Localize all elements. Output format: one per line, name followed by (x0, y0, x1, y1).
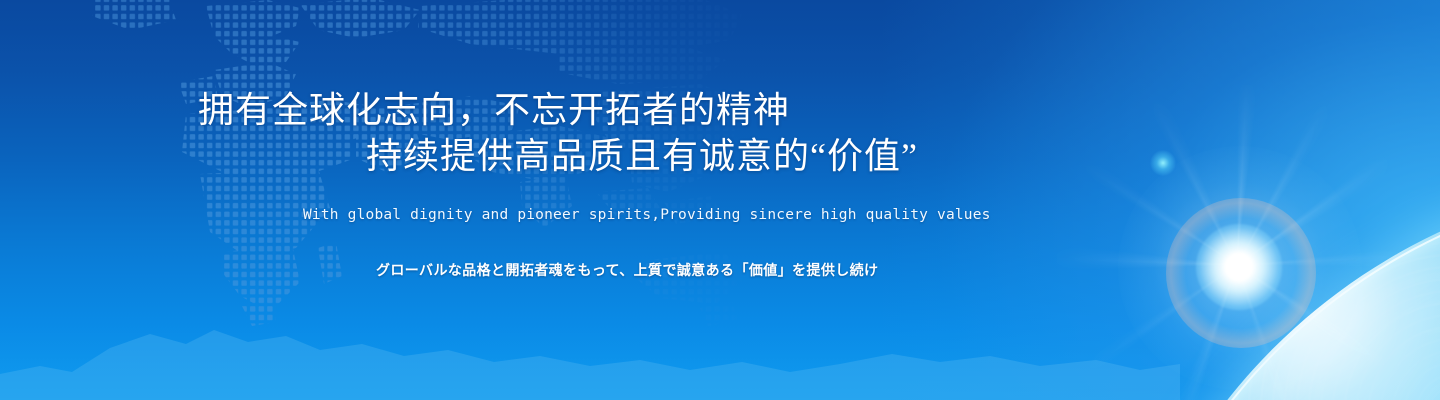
hero-banner: 拥有全球化志向，不忘开拓者的精神 持续提供高品质且有诚意的“价值” With g… (0, 0, 1440, 400)
light-point-icon (1150, 150, 1176, 176)
mountain-silhouette-icon (0, 314, 1180, 400)
sun-flare-icon (1196, 224, 1282, 310)
